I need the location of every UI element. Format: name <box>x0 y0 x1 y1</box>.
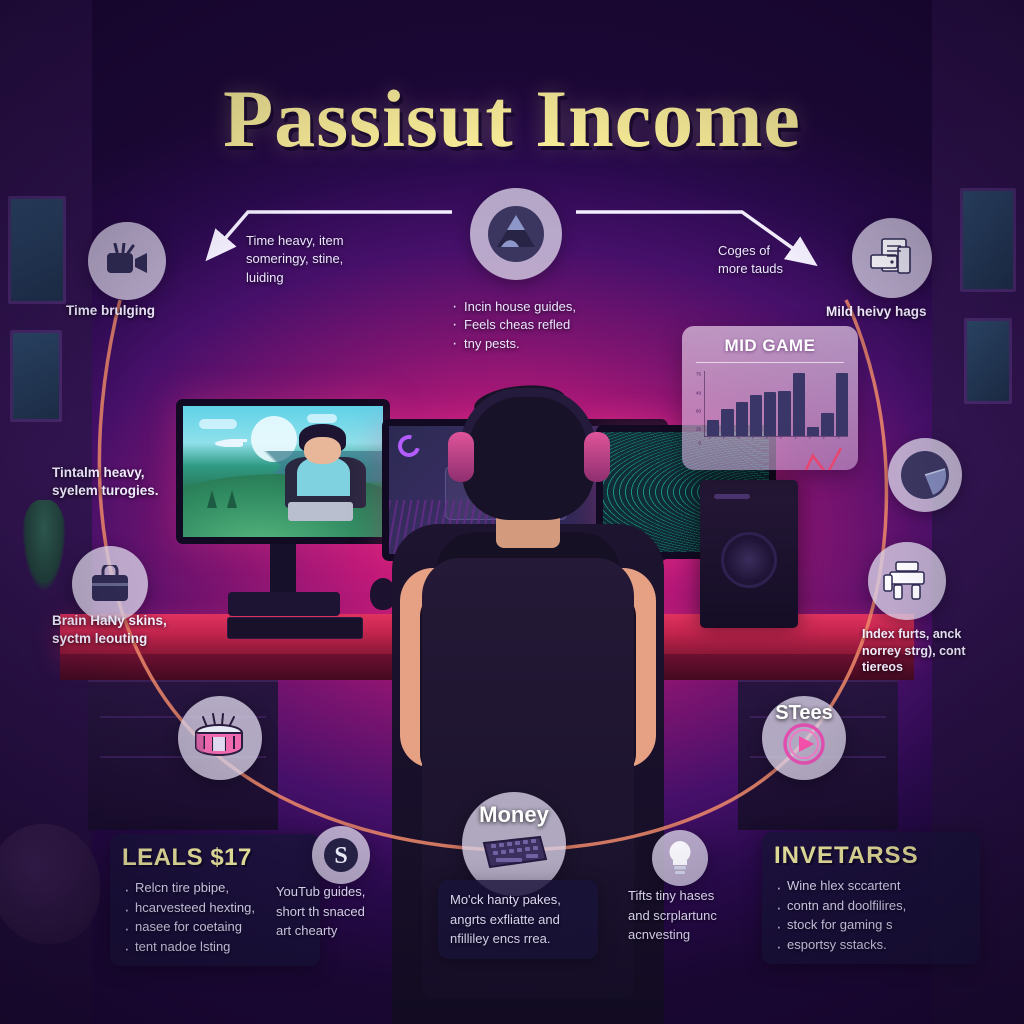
chart-x-labels: ≈≈≈≈≈≈≈≈≈≈ <box>707 437 848 451</box>
lightbulb-icon <box>664 839 696 877</box>
card-bullet: esportsy sstacks. <box>774 935 968 955</box>
chart-trend-line <box>707 371 848 470</box>
annotation-top-right: Coges of more tauds <box>718 242 848 279</box>
mid-game-chart-panel: MID GAME 75 49 60 25 0 ≈≈≈≈≈≈≈≈≈≈ <box>682 326 858 470</box>
card-line: Tifts tiny hases <box>628 886 758 906</box>
y-tick: 49 <box>696 390 701 395</box>
gameplay-screen <box>183 406 383 537</box>
drum-icon <box>191 713 249 763</box>
card-heading: INVETARSS <box>774 842 968 870</box>
monitor-stand-base <box>228 592 340 616</box>
wall-picture-frame <box>8 196 66 304</box>
infographic-poster: Passisut Income Time brulging Time heavy… <box>0 0 1024 1024</box>
annotation-top-left: Time heavy, item someringy, stine, luidi… <box>246 232 406 287</box>
card-bullet: stock for gaming s <box>774 915 968 935</box>
keyboard-icon <box>478 833 550 875</box>
page-title: Passisut Income <box>0 72 1024 166</box>
video-camera-icon <box>105 243 149 279</box>
card-bullet: contn and doolfilires, <box>774 896 968 916</box>
node-label-tintalm-heavy: Tintalm heavy, syelem turogies. <box>52 464 212 500</box>
node-label-time-brulging: Time brulging <box>66 302 206 320</box>
documents-icon <box>868 237 916 279</box>
chart-plot-area: 75 49 60 25 0 ≈≈≈≈≈≈≈≈≈≈ <box>704 371 848 451</box>
card-line: and scrplartunc <box>628 906 758 926</box>
card-line: art chearty <box>276 921 406 941</box>
plant-decoration <box>22 500 66 592</box>
mountain-badge-icon <box>485 203 547 265</box>
node-mild-heivy-hags[interactable] <box>852 218 932 298</box>
wall-picture-frame <box>960 188 1016 292</box>
node-index-furts[interactable] <box>868 542 946 620</box>
card-bullet: Wine hlex sccartent <box>774 876 968 896</box>
card-heading: LEALS $17 <box>122 844 308 872</box>
y-tick: 60 <box>696 409 701 414</box>
node-drum[interactable] <box>178 696 262 780</box>
y-tick: 25 <box>696 426 701 431</box>
card-line: short th snaced <box>276 902 406 922</box>
y-tick: 0 <box>698 441 701 446</box>
node-label-mild-heivy-hags: Mild heivy hags <box>826 303 976 321</box>
s-badge-icon: S <box>321 835 361 875</box>
card-line: YouTub guides, <box>276 882 406 902</box>
node-brain-hany-skins[interactable] <box>72 546 148 622</box>
card-line: Mo'ck hanty pakes, <box>450 890 586 910</box>
node-label-brain-hany-skins: Brain HaNy skins, syctm leouting <box>52 612 222 648</box>
card-invetarss-left[interactable]: Tifts tiny hases and scrplartunc acnvest… <box>620 886 766 945</box>
bullet: Incin house guides, <box>452 298 632 316</box>
node-label-index-furts: Index furts, anck norrey strg), cont tie… <box>862 626 1022 676</box>
wall-picture-frame <box>964 318 1012 404</box>
node-time-brulging[interactable] <box>88 222 166 300</box>
node-pie-chart[interactable] <box>888 438 962 512</box>
wall-picture-frame <box>10 330 62 422</box>
streamer-avatar <box>283 424 371 521</box>
card-line: nfilliley encs rrea. <box>450 929 586 949</box>
svg-text:S: S <box>334 843 347 869</box>
pc-tower <box>700 480 798 628</box>
monitor-stand-neck <box>270 544 296 596</box>
node-center-badge[interactable] <box>470 188 562 280</box>
node-label-stees: STees <box>762 700 846 726</box>
node-bullets-center: Incin house guides, Feels cheas refled t… <box>452 298 632 353</box>
card-youtube-guides[interactable]: YouTub guides, short th snaced art chear… <box>268 882 414 941</box>
card-money-notes[interactable]: Mo'ck hanty pakes, angrts exfliatte and … <box>438 880 598 959</box>
card-invetarss[interactable]: INVETARSS Wine hlex sccartent contn and … <box>762 832 980 964</box>
card-line: angrts exfliatte and <box>450 910 586 930</box>
node-lightbulb[interactable] <box>652 830 708 886</box>
pie-chart-icon <box>899 449 951 501</box>
briefcase-icon <box>88 565 132 603</box>
card-line: acnvesting <box>628 925 758 945</box>
machine-icon <box>883 559 931 603</box>
y-tick: 75 <box>696 372 701 377</box>
bullet: Feels cheas refled <box>452 316 632 334</box>
node-s-badge[interactable]: S <box>312 826 370 884</box>
node-label-money: Money <box>462 800 566 829</box>
desk-keyboard <box>227 617 363 639</box>
bullet: tny pests. <box>452 335 632 353</box>
chart-title: MID GAME <box>682 336 858 356</box>
